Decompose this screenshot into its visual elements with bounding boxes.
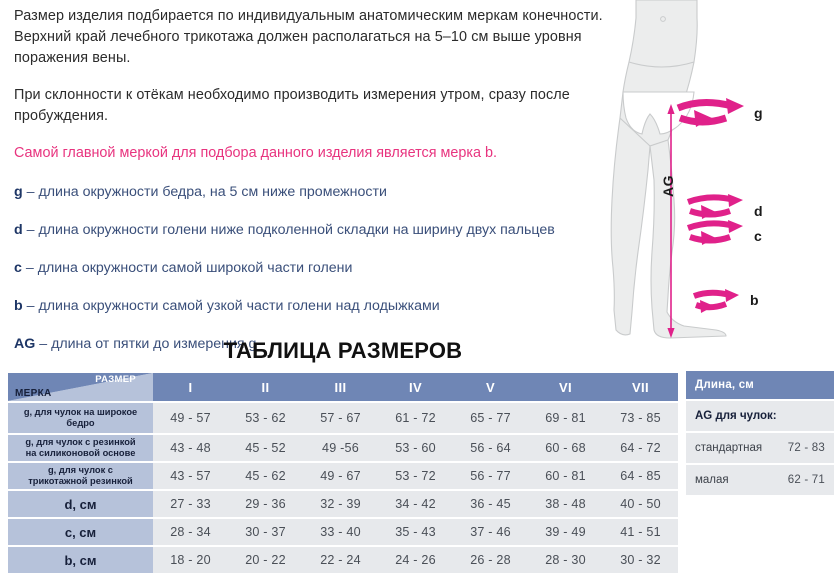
c-arrow-head-right-icon [728,220,743,233]
b-arrow-head-mid-icon [700,300,714,313]
cell-r5-c5: 28 - 30 [528,547,603,573]
legend-item-b: b – длина окружности самой узкой части г… [14,296,614,316]
illustration-label-c: c [754,228,762,244]
column-header-6: VI [528,373,603,401]
cell-r2-c5: 60 - 81 [528,463,603,489]
table-row: c, см 28 - 34 30 - 37 33 - 40 35 - 43 37… [8,519,678,545]
cell-r4-c6: 41 - 51 [603,519,678,545]
cell-r5-c0: 18 - 20 [153,547,228,573]
leg-measurement-illustration: g d c b AG [598,0,836,345]
illustration-label-d: d [754,203,763,219]
legend-key-b: b [14,298,23,314]
cell-r0-c1: 53 - 62 [228,403,303,433]
corner-measure-label: МЕРКА [15,388,52,399]
length-row-standard: стандартная 72 - 83 [686,433,834,463]
cell-r2-c4: 56 - 77 [453,463,528,489]
cell-r0-c0: 49 - 57 [153,403,228,433]
intro-paragraph-1: Размер изделия подбирается по индивидуал… [14,6,614,69]
cell-r2-c6: 64 - 85 [603,463,678,489]
row-label-b-cm: b, см [8,547,153,573]
cell-r1-c3: 53 - 60 [378,435,453,461]
length-row-small-value: 62 - 71 [788,474,825,486]
cell-r3-c0: 27 - 33 [153,491,228,517]
length-row-standard-value: 72 - 83 [788,442,825,454]
cell-r1-c1: 45 - 52 [228,435,303,461]
cell-r2-c0: 43 - 57 [153,463,228,489]
cell-r0-c4: 65 - 77 [453,403,528,433]
row-label-line-1: g, для чулок с [48,465,113,475]
cell-r4-c0: 28 - 34 [153,519,228,545]
table-row: d, см 27 - 33 29 - 36 32 - 39 34 - 42 36… [8,491,678,517]
cell-r1-c4: 56 - 64 [453,435,528,461]
cell-r3-c1: 29 - 36 [228,491,303,517]
column-header-1: I [153,373,228,401]
table-row: g, для чулок с резинкой на силиконовой о… [8,435,678,461]
cell-r2-c3: 53 - 72 [378,463,453,489]
row-label-g-knit-band: g, для чулок с трикотажной резинкой [8,463,153,489]
column-header-5: V [453,373,528,401]
legend-item-c: c – длина окружности самой широкой части… [14,258,614,278]
legend-dash-d: – [27,222,35,238]
column-header-3: III [303,373,378,401]
cell-r5-c6: 30 - 32 [603,547,678,573]
length-panel-subtitle-row: AG для чулок: [686,401,834,431]
column-header-4: IV [378,373,453,401]
length-panel-header: Длина, см [686,371,834,399]
cell-r1-c2: 49 -56 [303,435,378,461]
b-arrow-head-right-icon [725,289,739,302]
row-label-g-silicone: g, для чулок с резинкой на силиконовой о… [8,435,153,461]
underwear-shape [623,92,694,134]
cell-r4-c4: 37 - 46 [453,519,528,545]
size-table-body: g, для чулок на широкое бедро 49 - 57 53… [8,403,678,573]
d-arrow-head-right-icon [728,194,743,207]
legend-item-d: d – длина окружности голени ниже подколе… [14,220,614,240]
legend-dash-c: – [26,260,34,276]
cell-r1-c6: 64 - 72 [603,435,678,461]
cell-r3-c6: 40 - 50 [603,491,678,517]
cell-r2-c2: 49 - 67 [303,463,378,489]
legend-text-g: длина окружности бедра, на 5 см ниже про… [38,184,386,200]
cell-r4-c2: 33 - 40 [303,519,378,545]
cell-r4-c5: 39 - 49 [528,519,603,545]
length-row-standard-name: стандартная [695,442,788,454]
cell-r1-c0: 43 - 48 [153,435,228,461]
table-row: g, для чулок на широкое бедро 49 - 57 53… [8,403,678,433]
cell-r4-c1: 30 - 37 [228,519,303,545]
corner-size-label: РАЗМЕР [95,374,136,385]
highlight-note: Самой главной меркой для подбора данного… [14,143,614,164]
legend-text-c: длина окружности самой широкой части гол… [38,260,353,276]
row-label-g-wide-thigh: g, для чулок на широкое бедро [8,403,153,433]
cell-r5-c1: 20 - 22 [228,547,303,573]
cell-r0-c3: 61 - 72 [378,403,453,433]
row-label-line-1: g, для чулок на широкое [24,407,137,417]
g-arrow-head-right-icon [726,98,744,114]
size-table-header-row: РАЗМЕР МЕРКА I II III IV V VI VII [8,373,678,401]
legend-item-g: g – длина окружности бедра, на 5 см ниже… [14,182,614,202]
legend-dash-b: – [27,298,35,314]
cell-r4-c3: 35 - 43 [378,519,453,545]
body-diagram-svg [598,0,836,345]
cell-r3-c3: 34 - 42 [378,491,453,517]
cell-r0-c5: 69 - 81 [528,403,603,433]
legend-key-g: g [14,184,23,200]
cell-r1-c5: 60 - 68 [528,435,603,461]
length-panel-subtitle: AG для чулок: [695,410,825,422]
cell-r5-c3: 24 - 26 [378,547,453,573]
size-chart-page: Размер изделия подбирается по индивидуал… [0,0,836,571]
table-corner-cell: РАЗМЕР МЕРКА [8,373,153,401]
cell-r0-c6: 73 - 85 [603,403,678,433]
cell-r3-c4: 36 - 45 [453,491,528,517]
legend-dash-g: – [27,184,35,200]
b-circumference-arrow [694,293,730,308]
length-panel: Длина, см AG для чулок: стандартная 72 -… [686,371,834,497]
legend-key-d: d [14,222,23,238]
illustration-label-b: b [750,292,759,308]
instructions-column: Размер изделия подбирается по индивидуал… [14,6,614,372]
length-row-small-name: малая [695,474,788,486]
illustration-label-g: g [754,105,763,121]
row-label-line-2: на силиконовой основе [26,448,136,458]
row-label-d-cm: d, см [8,491,153,517]
legend-text-b: длина окружности самой узкой части голен… [38,298,439,314]
cell-r0-c2: 57 - 67 [303,403,378,433]
row-label-line-2: бедро [66,418,94,428]
cell-r3-c5: 38 - 48 [528,491,603,517]
row-label-line-1: g, для чулок с резинкой [25,437,135,447]
legend-text-d: длина окружности голени ниже подколенной… [38,222,554,238]
table-row: g, для чулок с трикотажной резинкой 43 -… [8,463,678,489]
cell-r5-c2: 22 - 24 [303,547,378,573]
size-table-head: РАЗМЕР МЕРКА I II III IV V VI VII [8,373,678,401]
illustration-label-ag: AG [660,175,676,197]
size-table: РАЗМЕР МЕРКА I II III IV V VI VII g, для… [8,371,678,575]
table-row: b, см 18 - 20 20 - 22 22 - 24 24 - 26 26… [8,547,678,573]
row-label-c-cm: c, см [8,519,153,545]
legend-key-c: c [14,260,22,276]
cell-r3-c2: 32 - 39 [303,491,378,517]
row-label-line-2: трикотажной резинкой [28,476,133,486]
intro-paragraph-2: При склонности к отёкам необходимо произ… [14,85,614,127]
column-header-2: II [228,373,303,401]
size-table-wrapper: РАЗМЕР МЕРКА I II III IV V VI VII g, для… [8,371,678,575]
left-leg-shape [611,118,650,335]
column-header-7: VII [603,373,678,401]
cell-r5-c4: 26 - 28 [453,547,528,573]
length-row-small: малая 62 - 71 [686,465,834,495]
cell-r2-c1: 45 - 62 [228,463,303,489]
table-title: ТАБЛИЦА РАЗМЕРОВ [0,338,686,364]
